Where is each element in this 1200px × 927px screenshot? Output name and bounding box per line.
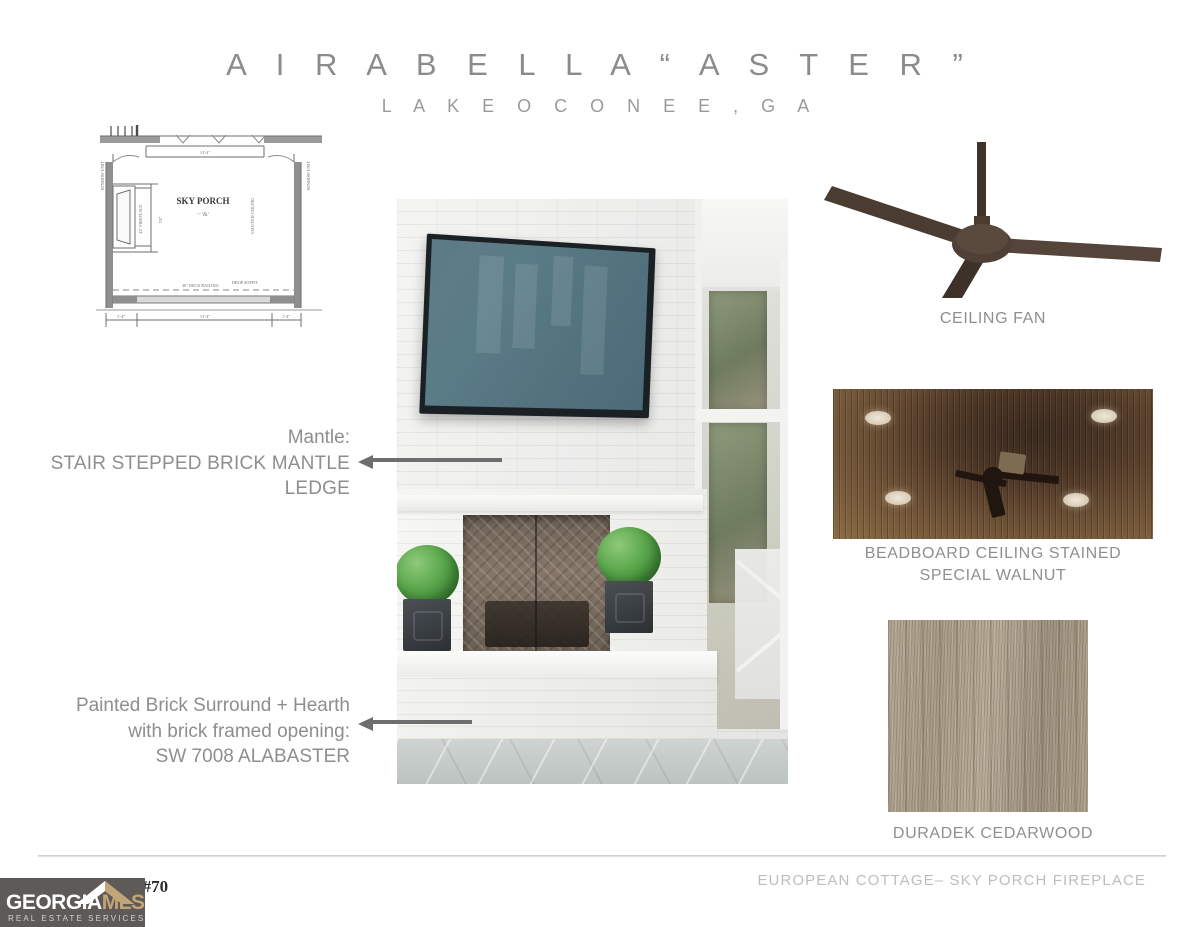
annotation-mantle-line-2: STAIR STEPPED BRICK MANTLE [30,451,350,477]
floorplan-dim-bottom-center: 13'-4" [200,314,210,319]
wall-mounted-tv [419,234,655,419]
logo-word-mls: MLS [102,891,145,914]
floorplan-dim-bottom-right: 1'-4" [282,314,290,319]
recessed-light [865,411,891,425]
floor-plan-drawing: SKY PORCH ~ '&' 13'-4" 13'-4" 1'-4" 1'-4… [82,124,332,329]
floorplan-label-window-left: WINDOW UNIT [100,161,105,191]
floorplan-dim-bottom-left: 1'-4" [117,314,125,319]
title-subtitle: L A K E O C O N E E , G A [0,96,1200,117]
planter-left [403,599,451,651]
floorplan-label-window-right: WINDOW UNIT [306,161,311,191]
footer-divider [38,855,1166,857]
ceiling-fan-in-photo [961,447,1061,507]
firebox [463,515,610,655]
arrow-to-mantle [358,455,502,465]
label-beadboard-ceiling: BEADBOARD CEILING STAINED SPECIAL WALNUT [828,543,1158,586]
label-duradek: DURADEK CEDARWOOD [828,823,1158,845]
floorplan-room-label: SKY PORCH [177,196,230,206]
label-beadboard-line-2: SPECIAL WALNUT [920,567,1067,584]
annotation-mantle: Mantle: STAIR STEPPED BRICK MANTLE LEDGE [30,425,350,502]
recessed-light [1091,409,1117,423]
floorplan-label-fireplace: 42" FIREPLACE [138,204,143,234]
logo-wordmark: GEORGIAMLS [6,892,145,913]
label-beadboard-line-1: BEADBOARD CEILING STAINED [865,545,1122,562]
beadboard-ceiling-image [833,389,1153,539]
fireplace-photo [397,199,788,784]
topiary-right [597,527,661,587]
floorplan-label-railing: 36" DECK RAILING [182,283,219,288]
window-mullion [697,409,788,422]
label-ceiling-fan: CEILING FAN [828,308,1158,330]
annotation-brick-line-3: SW 7008 ALABASTER [18,744,350,770]
floorplan-dim-mantle: 5'4" [158,216,163,223]
logo-tagline: REAL ESTATE SERVICES [8,914,138,923]
annotation-brick-line-1: Painted Brick Surround + Hearth [18,693,350,719]
title-main: A I R A B E L L A “ A S T E R ” [0,48,1200,82]
duradek-cedarwood-swatch [888,620,1088,812]
annotation-mantle-line-3: LEDGE [30,476,350,502]
floorplan-dim-top: 13'-4" [200,150,210,155]
georgia-mls-logo: GEORGIAMLS REAL ESTATE SERVICES [0,878,145,927]
floorplan-label-soffit: DROP SOFFIT [232,280,258,285]
logo-word-georgia: GEORGIA [6,891,102,914]
footer-caption: EUROPEAN COTTAGE– SKY PORCH FIREPLACE [757,872,1146,889]
bluestone-floor [397,739,788,784]
window-header [697,199,788,290]
arrow-to-brick-surround [358,717,472,727]
recessed-light [885,491,911,505]
topiary-left [397,545,459,605]
window-jamb-right [780,259,788,729]
planter-right [605,581,653,633]
floorplan-room-sub: ~ '&' [197,212,209,218]
floorplan-label-ceiling: VAULTED CEILING [250,198,255,235]
ceiling-fan-image [822,140,1167,298]
annotation-brick-line-2: with brick framed opening: [18,719,350,745]
annotation-mantle-line-1: Mantle: [30,425,350,451]
annotation-brick-surround: Painted Brick Surround + Hearth with bri… [18,693,350,770]
brick-mantle-ledge [397,495,703,511]
page-title: A I R A B E L L A “ A S T E R ” L A K E … [0,48,1200,117]
design-board: A I R A B E L L A “ A S T E R ” L A K E … [0,0,1200,927]
recessed-light [1063,493,1089,507]
